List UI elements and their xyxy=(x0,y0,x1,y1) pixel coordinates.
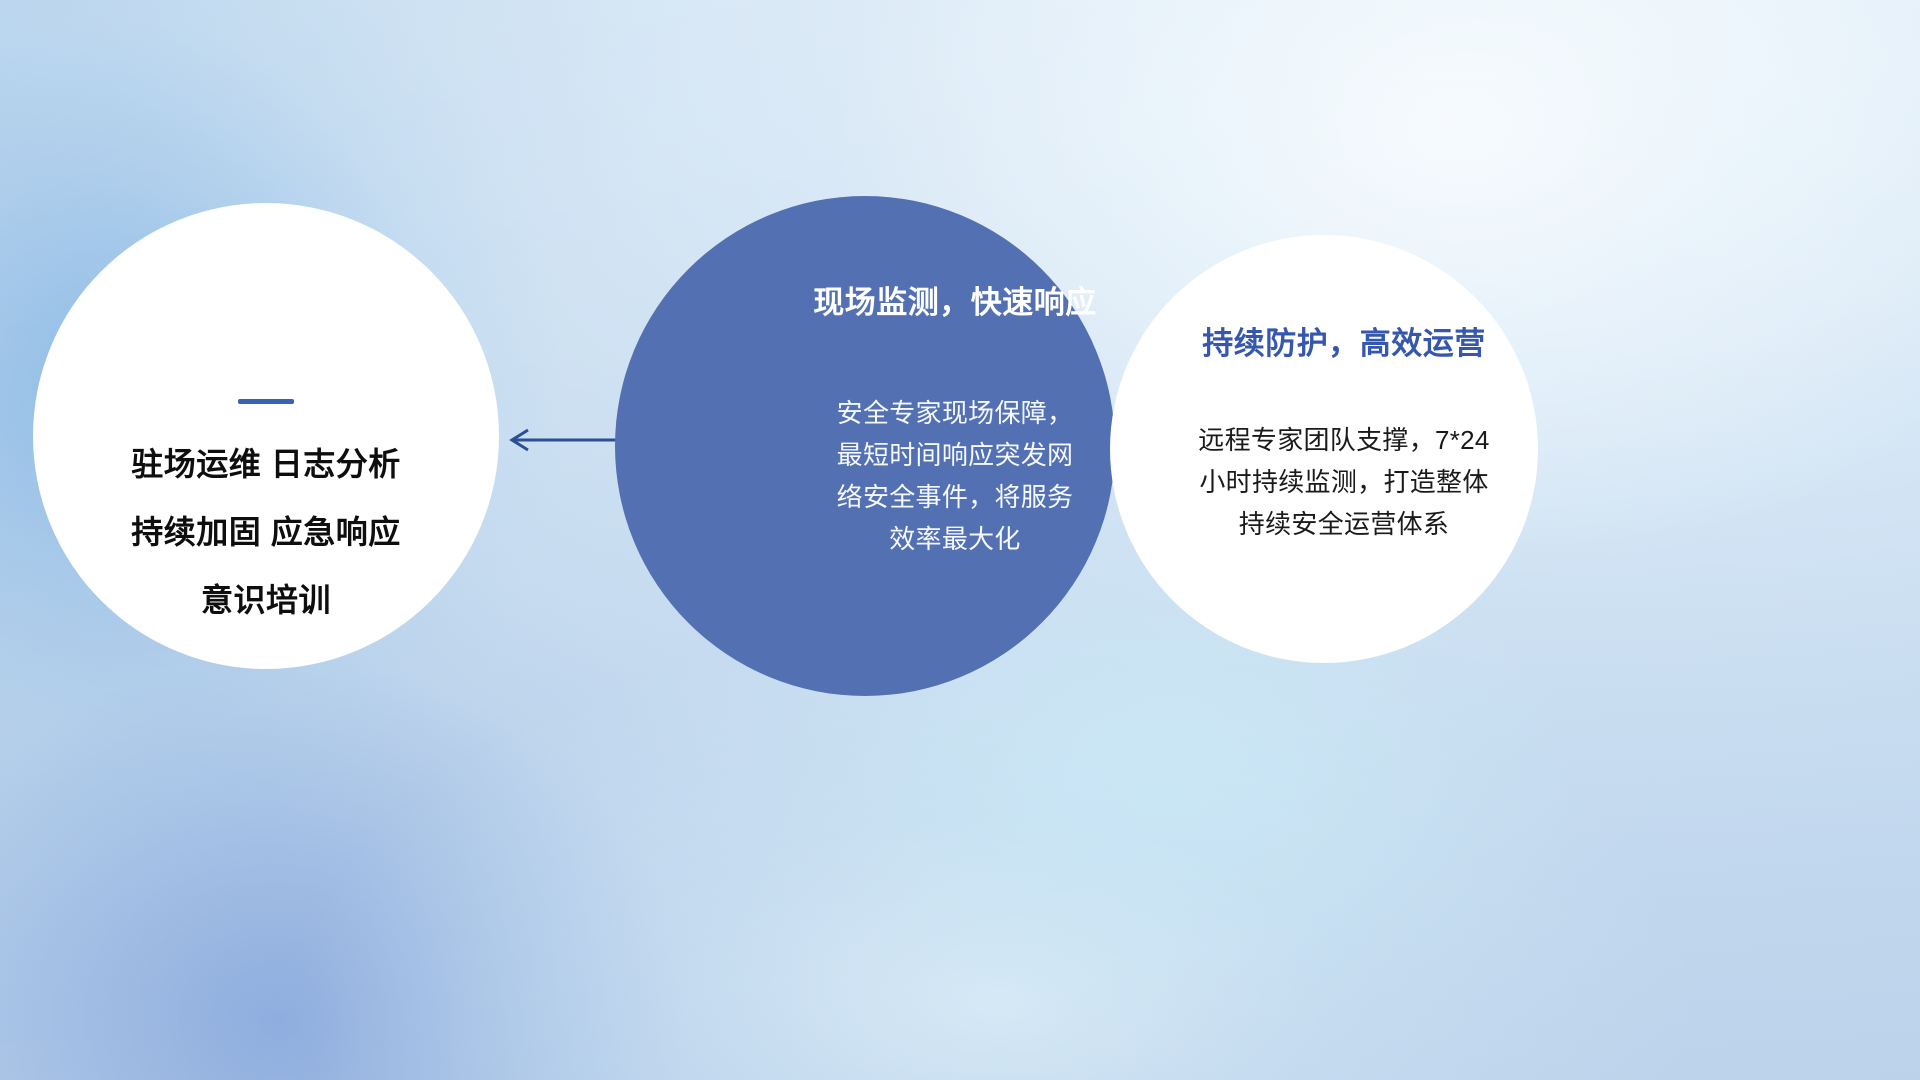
right-body-line-2: 小时持续监测，打造整体 xyxy=(1134,461,1554,503)
right-body-line-1: 远程专家团队支撑，7*24 xyxy=(1134,419,1554,461)
middle-body-line-3: 络安全事件，将服务 xyxy=(790,476,1120,518)
middle-body-line-1: 安全专家现场保障， xyxy=(790,392,1120,434)
right-body-line-3: 持续安全运营体系 xyxy=(1134,503,1554,545)
left-capability-line-1: 驻场运维 日志分析 xyxy=(131,448,400,480)
middle-onsite-monitoring-circle: 现场监测，快速响应 安全专家现场保障， 最短时间响应突发网 络安全事件，将服务 … xyxy=(615,196,1115,696)
middle-body-line-2: 最短时间响应突发网 xyxy=(790,434,1120,476)
middle-body-line-4: 效率最大化 xyxy=(790,518,1120,560)
slide-canvas: 驻场运维 日志分析 持续加固 应急响应 意识培训 现场监测，快速响应 安全专家现… xyxy=(0,0,1920,1080)
right-circle-content: 持续防护，高效运营 远程专家团队支撑，7*24 小时持续监测，打造整体 持续安全… xyxy=(1134,327,1554,545)
right-circle-title: 持续防护，高效运营 xyxy=(1134,327,1554,361)
horizontal-dash-icon xyxy=(238,399,294,404)
middle-circle-body: 安全专家现场保障， 最短时间响应突发网 络安全事件，将服务 效率最大化 xyxy=(790,392,1120,560)
right-circle-body: 远程专家团队支撑，7*24 小时持续监测，打造整体 持续安全运营体系 xyxy=(1134,419,1554,545)
left-capability-line-2: 持续加固 应急响应 xyxy=(131,516,400,548)
left-capability-line-3: 意识培训 xyxy=(201,584,331,616)
right-continuous-protection-circle: 持续防护，高效运营 远程专家团队支撑，7*24 小时持续监测，打造整体 持续安全… xyxy=(1110,235,1538,663)
left-capability-circle: 驻场运维 日志分析 持续加固 应急响应 意识培训 xyxy=(33,203,499,669)
middle-circle-content: 现场监测，快速响应 安全专家现场保障， 最短时间响应突发网 络安全事件，将服务 … xyxy=(790,286,1120,561)
middle-circle-title: 现场监测，快速响应 xyxy=(790,286,1120,320)
